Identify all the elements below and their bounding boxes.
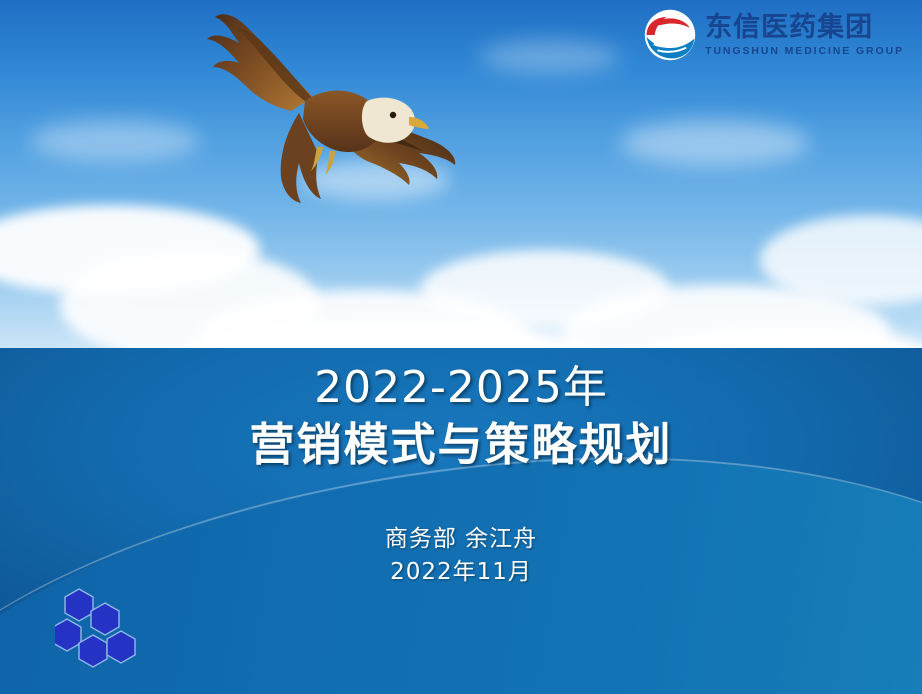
title-panel: 2022-2025年 营销模式与策略规划 商务部 余江舟 2022年11月: [0, 348, 922, 694]
hexagon-cluster-icon: [55, 587, 143, 672]
cloud-decoration: [620, 120, 810, 166]
eagle-head: [362, 98, 415, 143]
slide-subtitle-date: 2022年11月: [0, 556, 922, 589]
eagle-icon: [195, 5, 495, 220]
slide-subtitle-author: 商务部 余江舟: [0, 523, 922, 556]
logo-text-block: 东信医药集团 TUNGSHUN MEDICINE GROUP: [705, 14, 904, 57]
slide-title-line-2: 营销模式与策略规划: [0, 416, 922, 474]
company-logo: 东信医药集团 TUNGSHUN MEDICINE GROUP: [643, 8, 904, 62]
eagle-left-wing: [207, 14, 313, 111]
eagle-eye: [390, 112, 396, 118]
sky-photo: 东信医药集团 TUNGSHUN MEDICINE GROUP: [0, 0, 922, 352]
logo-mark-icon: [643, 8, 697, 62]
slide-title-block: 2022-2025年 营销模式与策略规划: [0, 360, 922, 474]
logo-company-name-cn: 东信医药集团: [705, 14, 904, 41]
slide-title-line-1: 2022-2025年: [0, 360, 922, 416]
cloud-decoration: [480, 40, 620, 74]
cloud-decoration: [30, 120, 200, 162]
logo-company-name-en: TUNGSHUN MEDICINE GROUP: [705, 46, 904, 57]
title-slide: 东信医药集团 TUNGSHUN MEDICINE GROUP 2022-2025…: [0, 0, 922, 694]
slide-subtitle-block: 商务部 余江舟 2022年11月: [0, 523, 922, 590]
